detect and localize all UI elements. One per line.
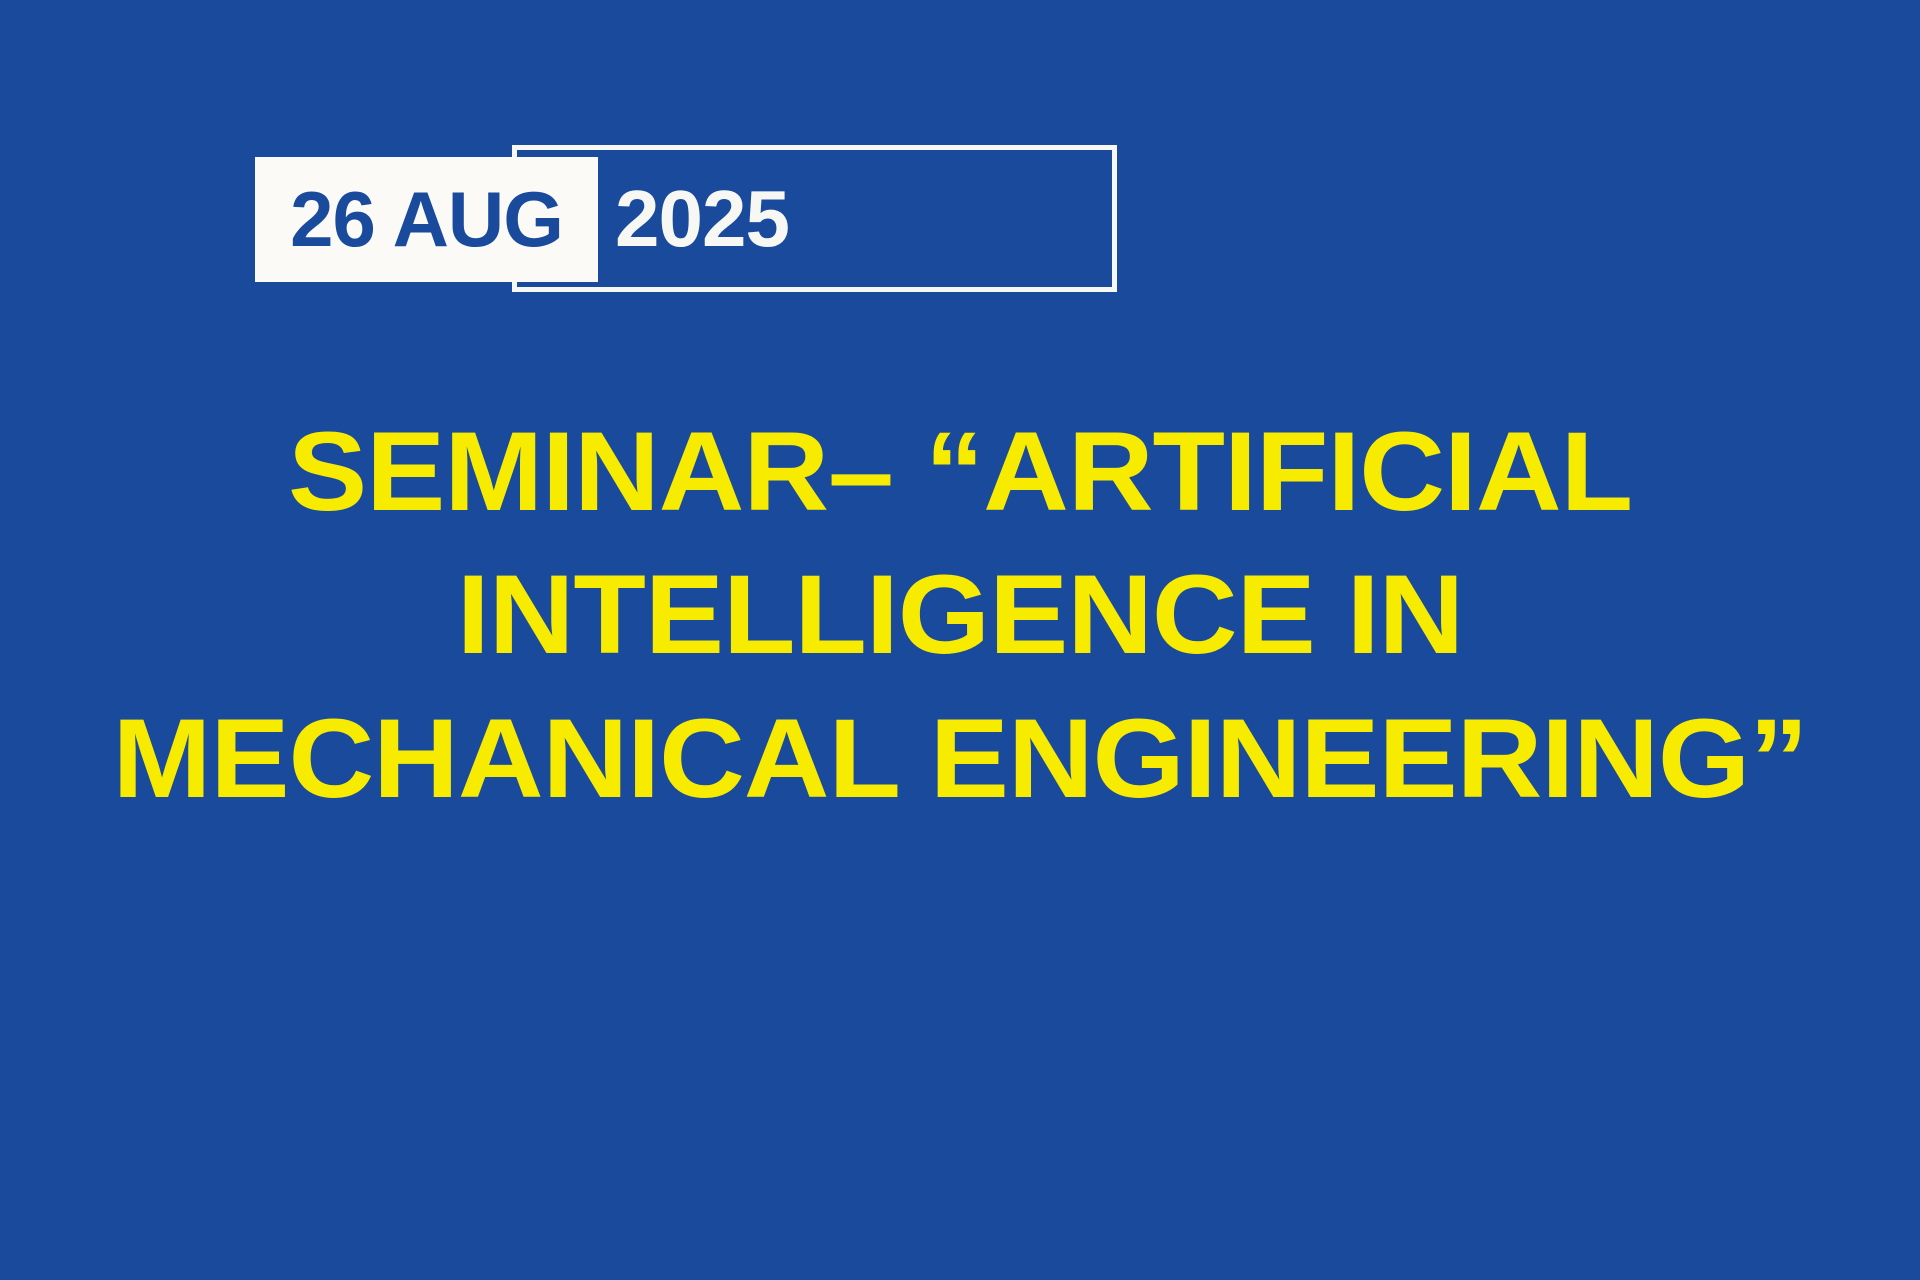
date-badge: 2025 26 AUG: [255, 145, 865, 295]
title-line-1: SEMINAR– “ARTIFICIAL: [0, 400, 1920, 543]
day-month-panel: 26 AUG: [255, 157, 598, 282]
seminar-announcement-poster: 2025 26 AUG SEMINAR– “ARTIFICIAL INTELLI…: [0, 0, 1920, 1280]
title-line-3: MECHANICAL ENGINEERING”: [0, 687, 1920, 830]
event-day-month: 26 AUG: [255, 157, 598, 282]
title-line-2: INTELLIGENCE IN: [0, 543, 1920, 686]
event-year: 2025: [615, 169, 875, 269]
page-title: SEMINAR– “ARTIFICIAL INTELLIGENCE IN MEC…: [0, 400, 1920, 830]
